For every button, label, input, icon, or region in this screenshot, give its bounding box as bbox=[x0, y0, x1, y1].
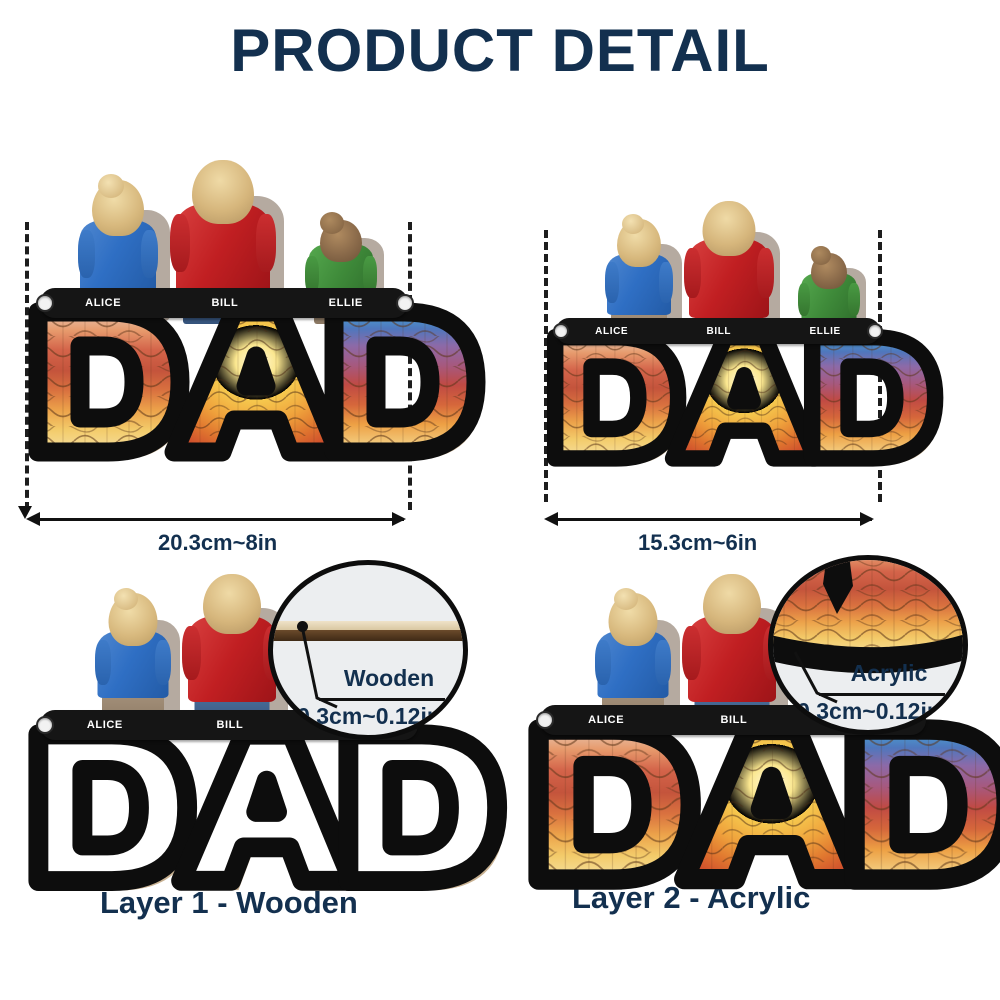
callout-thickness-acrylic: 0.3cm~0.12in bbox=[769, 698, 968, 725]
family-figures-wooden bbox=[90, 570, 284, 728]
plaque-full: ALICE BILL ELLIE bbox=[30, 288, 420, 438]
magnifier-acrylic: Acrylic 0.3cm~0.12in bbox=[768, 555, 968, 735]
name-bar-small: ALICE BILL ELLIE bbox=[556, 318, 880, 344]
name-ellie: ELLIE bbox=[809, 326, 840, 337]
dimension-label-small: 15.3cm~6in bbox=[638, 530, 757, 556]
name-bill: BILL bbox=[211, 297, 238, 309]
dimension-arrow-left-full bbox=[26, 512, 40, 526]
name-bill: BILL bbox=[216, 719, 243, 731]
word-dad-acrylic bbox=[530, 723, 1000, 899]
dimension-line-full bbox=[36, 518, 404, 521]
name-alice: ALICE bbox=[85, 297, 121, 309]
word-dad-full bbox=[30, 306, 494, 470]
bill-hair bbox=[192, 160, 254, 224]
name-alice: ALICE bbox=[595, 326, 628, 337]
dimension-line-small bbox=[554, 518, 872, 521]
name-ellie: ELLIE bbox=[329, 297, 363, 309]
panel-small-size: ALICE BILL ELLIE bbox=[500, 150, 980, 560]
figure-alice-wooden bbox=[90, 588, 176, 728]
magnifier-wooden: Wooden 0.3cm~0.12in bbox=[268, 560, 468, 740]
panel-full-size: ALICE BILL ELLIE bbox=[0, 140, 470, 560]
letter-d-right bbox=[846, 723, 1000, 899]
hanging-hole-left bbox=[553, 323, 569, 339]
panel-layer-acrylic: ALICE BILL ELLIE bbox=[500, 555, 1000, 940]
letter-d-right bbox=[805, 332, 951, 474]
callout-rule-wooden bbox=[319, 698, 445, 701]
dimension-label-full: 20.3cm~8in bbox=[158, 530, 277, 556]
letter-d-right bbox=[340, 728, 516, 900]
name-alice: ALICE bbox=[588, 714, 624, 726]
page-title: PRODUCT DETAIL bbox=[0, 16, 1000, 85]
guide-left-full bbox=[25, 222, 29, 510]
name-bill: BILL bbox=[707, 326, 732, 337]
hanging-hole-left bbox=[36, 294, 54, 312]
hanging-hole-left bbox=[536, 711, 554, 729]
callout-thickness-wooden: 0.3cm~0.12in bbox=[269, 703, 468, 730]
word-dad-wooden bbox=[30, 728, 516, 900]
name-bar-full: ALICE BILL ELLIE bbox=[40, 288, 408, 318]
dimension-arrow-right-full bbox=[392, 512, 406, 526]
callout-material-wooden: Wooden bbox=[329, 665, 449, 692]
word-dad-small bbox=[548, 332, 951, 474]
panel-layer-wooden: ALICE BILL ELLIE bbox=[0, 560, 490, 940]
callout-rule-acrylic bbox=[819, 693, 945, 696]
hanging-hole-right bbox=[396, 294, 414, 312]
hanging-hole-left bbox=[36, 716, 54, 734]
dimension-arrow-left-small bbox=[544, 512, 558, 526]
callout-material-acrylic: Acrylic bbox=[829, 660, 949, 687]
product-detail-page: PRODUCT DETAIL bbox=[0, 0, 1000, 1000]
dimension-arrow-right-small bbox=[860, 512, 874, 526]
plaque-small: ALICE BILL ELLIE bbox=[548, 318, 888, 448]
name-bill: BILL bbox=[720, 714, 747, 726]
name-alice: ALICE bbox=[87, 719, 123, 731]
hanging-hole-right bbox=[867, 323, 883, 339]
letter-d-right bbox=[326, 306, 494, 470]
